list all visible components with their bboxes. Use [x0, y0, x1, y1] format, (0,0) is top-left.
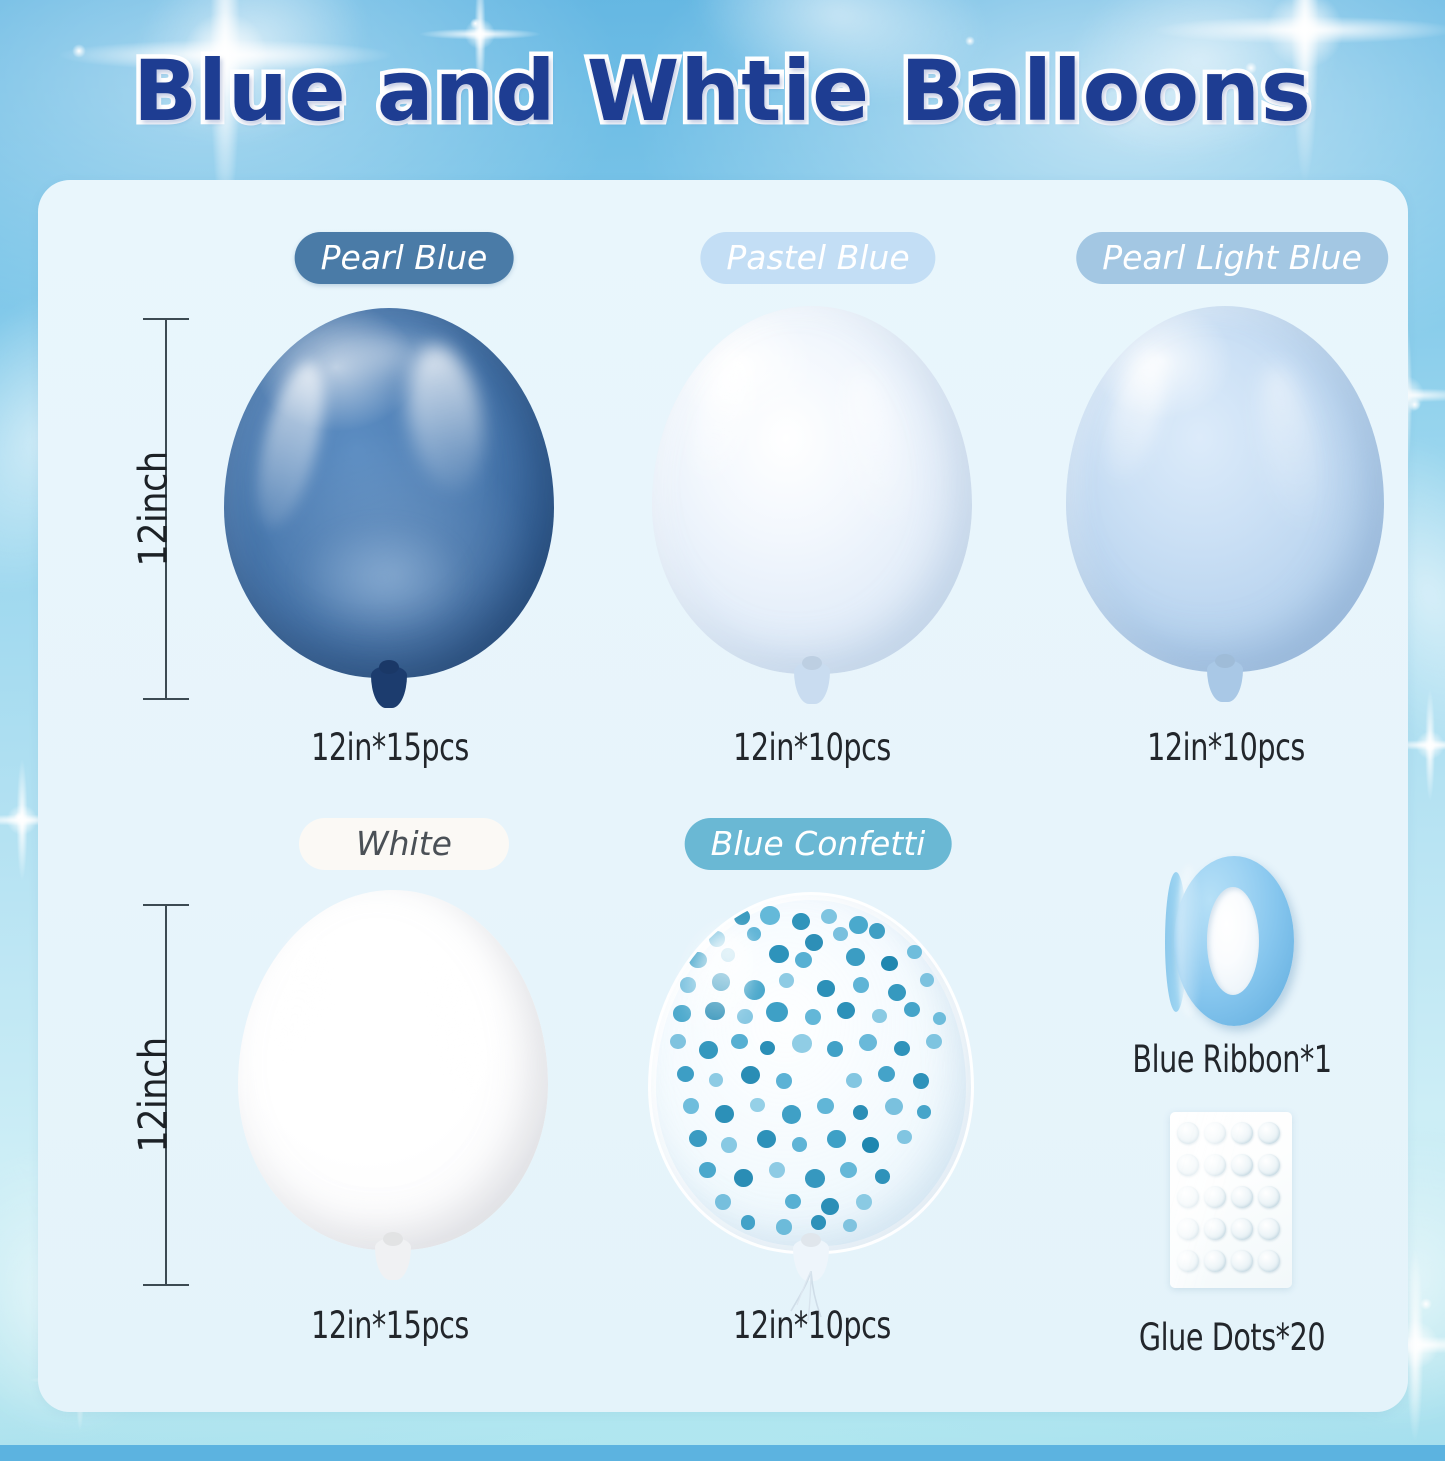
badge-pastel-blue: Pastel Blue: [700, 232, 935, 284]
balloon-icon-pearl-light-blue: [1066, 306, 1384, 672]
product-cell-pearl-blue[interactable]: Pearl Blue 12in*15pcs: [210, 220, 598, 780]
caption-pastel-blue: 12in*10pcs: [657, 726, 967, 769]
product-cell-white[interactable]: White 12in*15pcs: [210, 808, 598, 1368]
product-cell-blue-ribbon[interactable]: Blue Ribbon*1: [1038, 808, 1426, 1078]
product-cell-pearl-light-blue[interactable]: Pearl Light Blue 12in*10pcs: [1038, 220, 1426, 780]
balloon-icon-white: [238, 890, 548, 1250]
caption-pearl-blue: 12in*15pcs: [235, 726, 545, 769]
product-cell-glue-dots[interactable]: Glue Dots*20: [1038, 1088, 1426, 1368]
star-dot-icon: [14, 812, 25, 823]
ribbon-highlight: [1176, 864, 1202, 1018]
product-cell-blue-confetti[interactable]: Blue Confetti: [624, 808, 1012, 1368]
page-title-container: Blue and Whtie Balloons: [0, 42, 1445, 140]
confetti-balloon-icon: [648, 892, 974, 1254]
badge-white: White: [299, 818, 509, 870]
balloon-knot: [1207, 660, 1243, 702]
glue-dots-sheet-icon: [1170, 1112, 1292, 1288]
balloon-knot: [371, 666, 407, 708]
balloon-icon-pastel-blue: [652, 306, 972, 674]
product-cell-pastel-blue[interactable]: Pastel Blue 12in*10pcs: [624, 220, 1012, 780]
ribbon-core-hole: [1207, 887, 1259, 995]
dimension-cap-bottom: [143, 1284, 189, 1286]
product-grid: 12inch Pearl Blue 12in*15pcs Pastel Blue…: [38, 180, 1408, 1412]
badge-blue-confetti: Blue Confetti: [685, 818, 952, 870]
caption-pearl-light-blue: 12in*10pcs: [1071, 726, 1381, 769]
caption-white: 12in*15pcs: [235, 1304, 545, 1347]
caption-blue-ribbon: Blue Ribbon*1: [1072, 1038, 1392, 1081]
balloon-knot: [794, 662, 830, 704]
dimension-line-row2: 12inch: [143, 904, 189, 1286]
badge-pearl-blue: Pearl Blue: [295, 232, 514, 284]
star-dot-icon: [470, 18, 481, 29]
balloon-knot: [375, 1238, 411, 1280]
dimension-label-row1: 12inch: [132, 414, 177, 604]
star-dot-icon: [1425, 742, 1435, 752]
caption-blue-confetti: 12in*10pcs: [657, 1304, 967, 1347]
ribbon-spool-icon: [1174, 856, 1294, 1026]
confetti-dots-layer: [651, 895, 971, 1251]
dimension-label-row2: 12inch: [132, 1000, 177, 1190]
dimension-line-row1: 12inch: [143, 318, 189, 700]
dimension-cap-bottom: [143, 698, 189, 700]
caption-glue-dots: Glue Dots*20: [1072, 1316, 1392, 1359]
page-title: Blue and Whtie Balloons: [133, 42, 1312, 140]
badge-pearl-light-blue: Pearl Light Blue: [1076, 232, 1388, 284]
balloon-icon-pearl-blue: [224, 308, 554, 678]
